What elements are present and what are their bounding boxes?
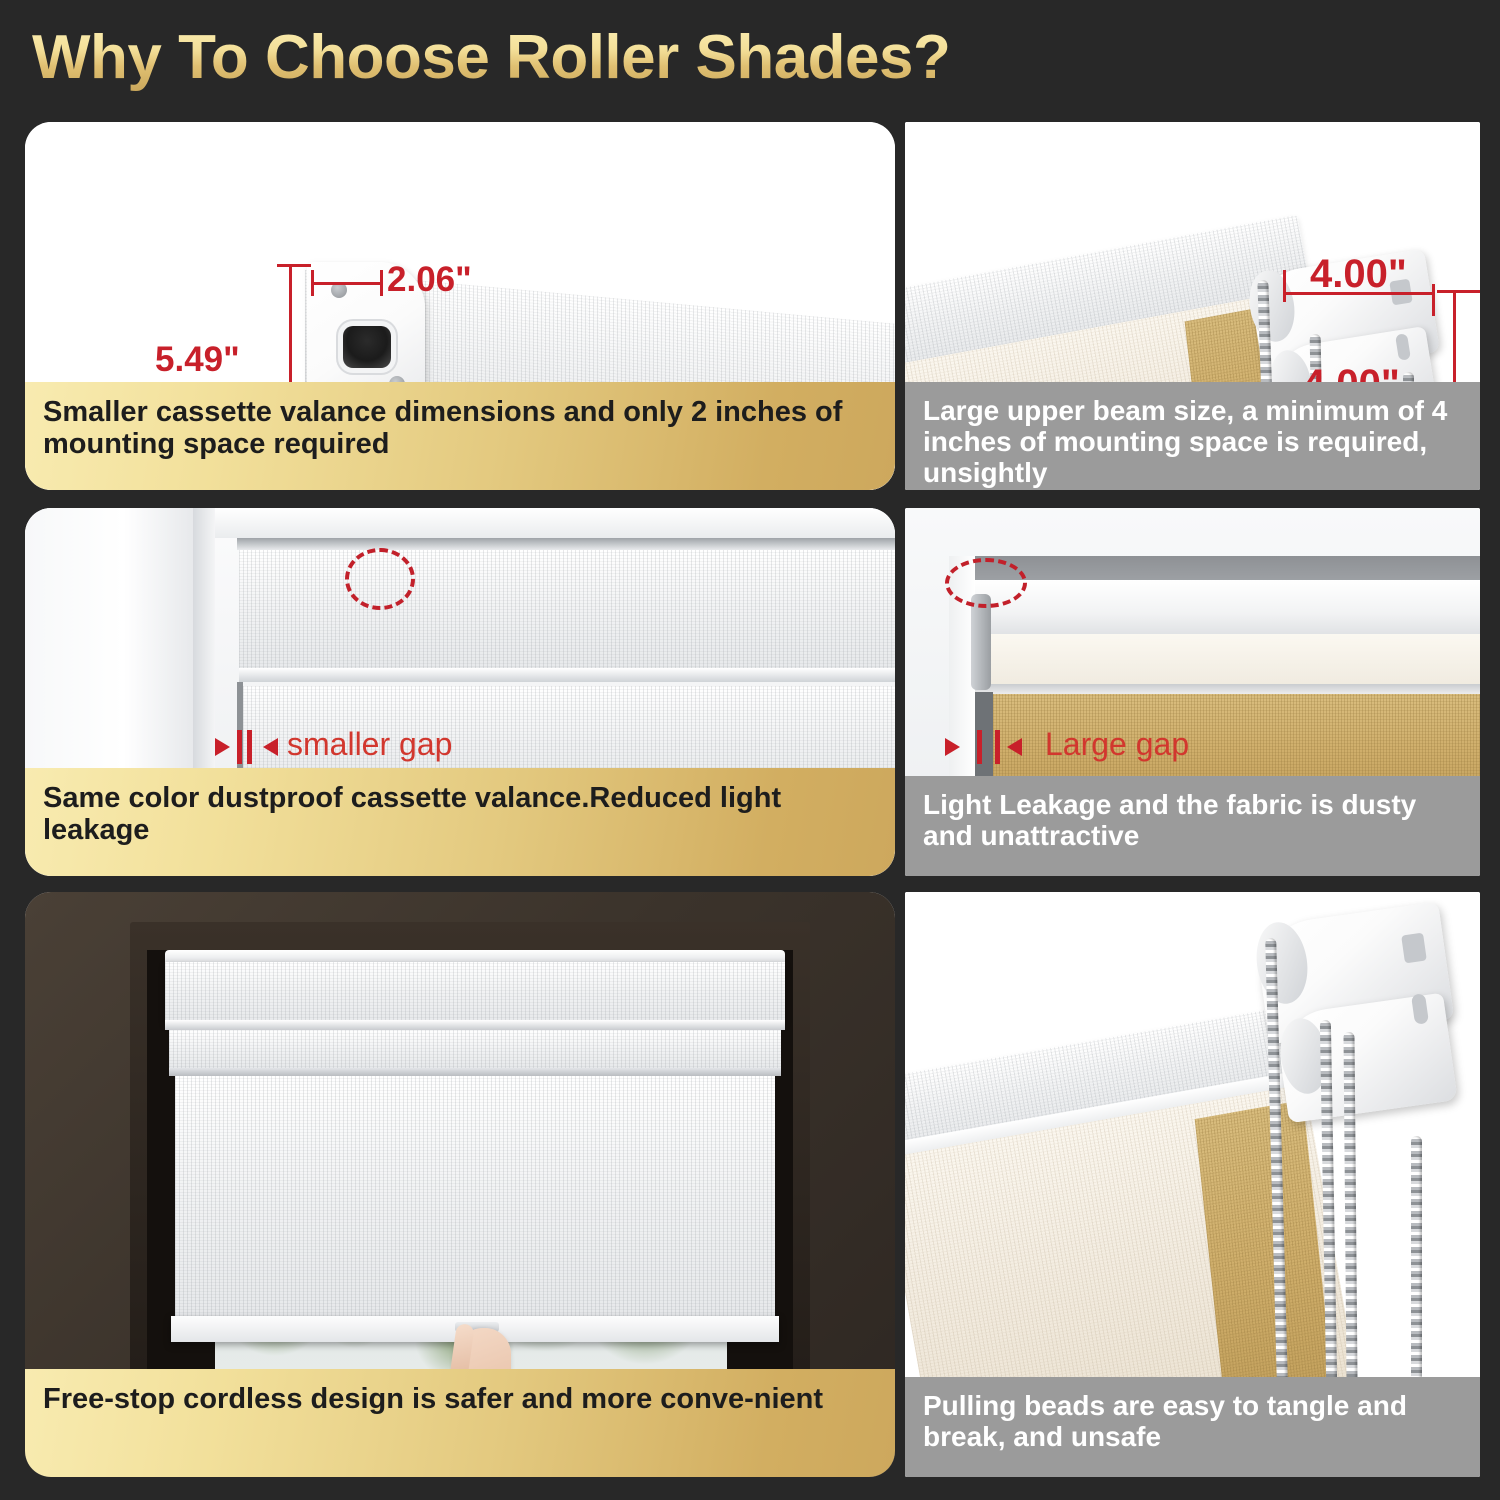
cassette-valance: [239, 550, 895, 676]
gap-arrow-left: [263, 738, 278, 756]
valance-face: [165, 962, 785, 1024]
cassette-top-edge: [237, 538, 895, 550]
panel-dustproof-cassette: smaller gap Same color dustproof cassett…: [25, 508, 895, 876]
valance-bottom-lip: [239, 668, 895, 682]
height-dim-tick-top: [277, 264, 311, 267]
width-dim-tick-right: [380, 270, 383, 296]
panel-5-caption: Free-stop cordless design is safer and m…: [25, 1369, 895, 1477]
gap-bar-left: [237, 730, 242, 764]
valance-bottom-edge: [957, 684, 1480, 694]
width-dim-tick-left: [1283, 270, 1286, 302]
gap-arrow-right: [215, 738, 230, 756]
panel-1-caption-text: Smaller cassette valance dimensions and …: [43, 396, 877, 461]
panel-4-caption: Light Leakage and the fabric is dusty an…: [905, 776, 1480, 876]
bead-chain-4: [1411, 1136, 1422, 1382]
gap-arrow-left: [1007, 738, 1022, 756]
side-mechanism: [971, 594, 991, 690]
panel-cordless-design: Free-stop cordless design is safer and m…: [25, 892, 895, 1477]
bracket-slot-1: [1401, 933, 1427, 964]
width-dim-line: [311, 282, 383, 285]
window-frame-left: [25, 508, 205, 798]
highlight-circle: [945, 558, 1027, 608]
gap-callout-label: Large gap: [1045, 726, 1189, 763]
height-dimension-label: 5.49": [155, 340, 240, 380]
gap-arrow-right: [945, 738, 960, 756]
shade-fabric: [175, 1076, 775, 1322]
panel-2-caption: Large upper beam size, a minimum of 4 in…: [905, 382, 1480, 490]
panel-6-caption-text: Pulling beads are easy to tangle and bre…: [923, 1391, 1462, 1453]
valance-lower-edge: [169, 1068, 781, 1076]
panel-smaller-cassette: 5.49" 2.06" Smaller cassette valance dim…: [25, 122, 895, 490]
gap-bar-right: [247, 730, 252, 764]
panel-3-caption: Same color dustproof cassette valance.Re…: [25, 768, 895, 876]
width-dim-tick-right: [1432, 284, 1435, 316]
comparison-grid: 5.49" 2.06" Smaller cassette valance dim…: [0, 0, 1500, 1500]
gap-callout-label: smaller gap: [287, 726, 452, 763]
clutch-socket: [343, 326, 391, 368]
height-dim-tick-top: [1437, 290, 1480, 293]
window-frame-edge: [193, 508, 215, 798]
panel-large-upper-beam: 4.00" 4.00" Large upper beam size, a min…: [905, 122, 1480, 490]
panel-1-caption: Smaller cassette valance dimensions and …: [25, 382, 895, 490]
panel-light-leakage: Large gap Light Leakage and the fabric i…: [905, 508, 1480, 876]
panel-3-caption-text: Same color dustproof cassette valance.Re…: [43, 782, 877, 847]
panel-2-caption-text: Large upper beam size, a minimum of 4 in…: [923, 396, 1462, 488]
width-dim-tick-left: [311, 270, 314, 296]
highlight-circle: [345, 548, 415, 610]
valance-front: [957, 580, 1480, 640]
gap-bar-right: [995, 730, 1000, 764]
panel-pulling-beads: Pulling beads are easy to tangle and bre…: [905, 892, 1480, 1477]
width-dimension-label: 2.06": [387, 260, 472, 300]
valance-lower: [169, 1030, 781, 1070]
panel-5-caption-text: Free-stop cordless design is safer and m…: [43, 1383, 877, 1415]
window-frame-top: [215, 508, 895, 538]
panel-6-caption: Pulling beads are easy to tangle and bre…: [905, 1377, 1480, 1477]
valance-lower-face: [957, 634, 1480, 686]
width-dimension-label: 4.00": [1310, 252, 1407, 297]
valance-groove: [165, 1020, 785, 1030]
gap-bar-left: [977, 730, 982, 764]
panel-4-caption-text: Light Leakage and the fabric is dusty an…: [923, 790, 1462, 852]
